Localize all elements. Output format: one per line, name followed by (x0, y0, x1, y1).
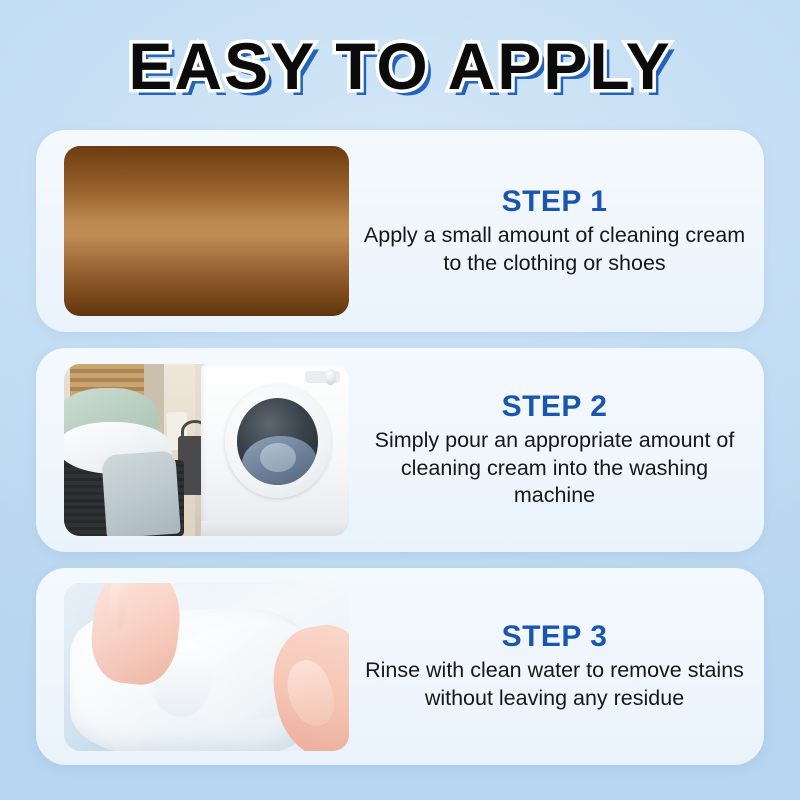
washing-machine-body (201, 364, 349, 536)
page-title-text: EASY TO APPLY (128, 33, 671, 99)
step-1-text-block: STEP 1 Apply a small amount of cleaning … (349, 185, 764, 277)
step-card-3: STEP 3 Rinse with clean water to remove … (36, 568, 764, 765)
machine-door-rim (225, 385, 332, 499)
page-title: EASY TO APPLY EASY TO APPLY EASY TO APPL… (128, 33, 671, 99)
rinsing-garment-photo (64, 583, 349, 751)
cleaning-cream-image (64, 146, 349, 316)
drum-laundry-highlight (260, 443, 296, 472)
washing-machine-image (64, 364, 349, 536)
grey-towel (101, 451, 181, 536)
step-card-2: STEP 2 Simply pour an appropriate amount… (36, 348, 764, 552)
page-header: EASY TO APPLY EASY TO APPLY EASY TO APPL… (0, 20, 800, 112)
step-3-text-block: STEP 3 Rinse with clean water to remove … (349, 620, 764, 712)
control-knob (325, 369, 335, 384)
step-2-text-block: STEP 2 Simply pour an appropriate amount… (349, 390, 764, 510)
machine-base (201, 521, 349, 536)
cleaning-cream-photo (64, 146, 349, 316)
step-3-description: Rinse with clean water to remove stains … (359, 657, 750, 712)
washing-machine-photo (64, 364, 349, 536)
step-card-1: STEP 1 Apply a small amount of cleaning … (36, 130, 764, 332)
step-2-description: Simply pour an appropriate amount of cle… (359, 427, 750, 510)
step-3-heading: STEP 3 (359, 620, 750, 653)
step-1-description: Apply a small amount of cleaning cream t… (359, 222, 750, 277)
rinsing-garment-image (64, 583, 349, 751)
step-1-heading: STEP 1 (359, 185, 750, 218)
step-2-heading: STEP 2 (359, 390, 750, 423)
machine-drum (237, 398, 318, 484)
